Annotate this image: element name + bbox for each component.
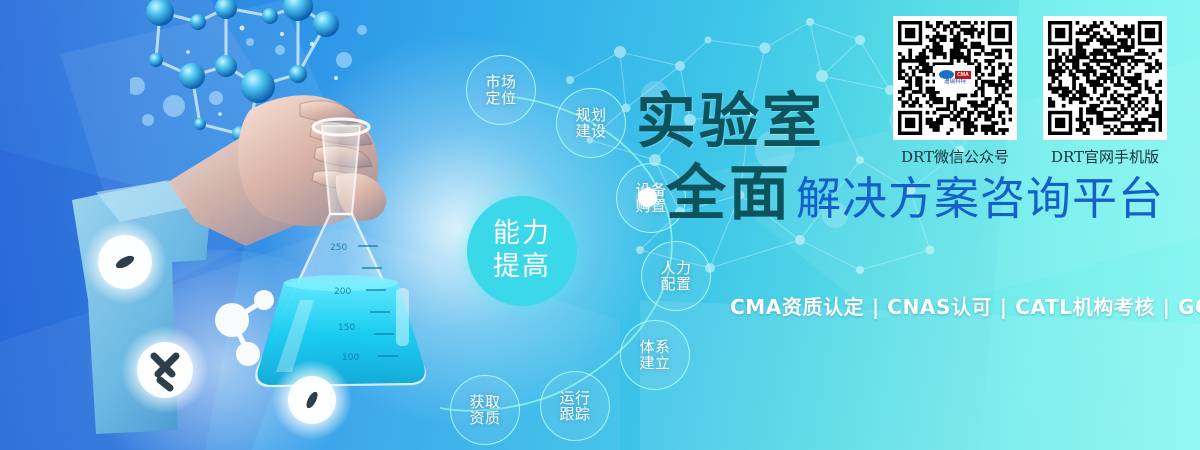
- qr-code-image-wechat-official-account[interactable]: CMA迪瑞科特: [893, 16, 1017, 140]
- bubble-label-line1: 体系: [639, 339, 670, 355]
- certification-tagline: CMA资质认定 | CNAS认可 | CATL机构考核 | GCP认证 | 6S…: [730, 291, 1200, 320]
- headline-emphasis: 全面: [666, 164, 792, 224]
- lower-glow: [60, 250, 380, 450]
- svg-text:100: 100: [342, 353, 359, 363]
- bubble-label-line2: 跟踪: [559, 406, 590, 422]
- flask-glow: [250, 20, 670, 440]
- qr-item-official-site-mobile[interactable]: DRT官网手机版: [1043, 16, 1167, 167]
- svg-text:150: 150: [338, 323, 355, 333]
- bubble-label-line1: 人力: [660, 260, 691, 276]
- qr-label-wechat-official-account: DRT微信公众号: [901, 146, 1009, 167]
- logo-cma-badge: CMA: [955, 71, 970, 79]
- process-bubble-capability-improvement[interactable]: 能力提高: [467, 196, 577, 306]
- process-bubble-manpower-allocation[interactable]: 人力配置: [641, 241, 711, 311]
- svg-text:200: 200: [334, 287, 351, 297]
- qr-label-official-site-mobile: DRT官网手机版: [1051, 146, 1159, 167]
- logo-oval-mark: [939, 70, 954, 79]
- bubble-label-line2: 配置: [660, 276, 691, 292]
- bg-facet-5: [640, 300, 1200, 450]
- bg-facet-1: [0, 0, 340, 450]
- qr-code-group: CMA迪瑞科特DRT微信公众号DRT官网手机版: [893, 16, 1167, 167]
- bubble-label-line2: 建设: [575, 123, 606, 139]
- process-bubble-planning-construction[interactable]: 规划建设: [556, 88, 626, 158]
- bg-facet-3: [0, 150, 250, 450]
- headline-subtext: 解决方案咨询平台: [796, 174, 1164, 224]
- headline-line-2: 全面 解决方案咨询平台: [636, 164, 1196, 224]
- bullet-dot-icon: [638, 188, 657, 207]
- process-bubble-market-positioning[interactable]: 市场定位: [466, 55, 536, 125]
- bubble-label-line2: 资质: [469, 410, 500, 426]
- bubble-label-line2: 建立: [639, 355, 670, 371]
- bubble-label-line2: 定位: [485, 90, 516, 106]
- qr-item-wechat-official-account[interactable]: CMA迪瑞科特DRT微信公众号: [893, 16, 1017, 167]
- bubble-label-line1: 市场: [485, 74, 516, 90]
- logo-company-name: 迪瑞科特: [944, 79, 966, 86]
- process-bubble-obtain-qualification[interactable]: 获取资质: [450, 375, 520, 445]
- bubble-label-line1: 获取: [469, 394, 500, 410]
- process-bubble-operation-tracking[interactable]: 运行跟踪: [540, 371, 610, 441]
- qr-center-logo: CMA迪瑞科特: [935, 65, 975, 91]
- molecule-diagram-icon: [130, 0, 390, 164]
- bubble-label-line2: 提高: [493, 251, 551, 284]
- qr-code-image-official-site-mobile[interactable]: [1043, 16, 1167, 140]
- bg-facet-2: [60, 0, 360, 300]
- svg-text:250: 250: [330, 243, 347, 253]
- bubble-label-line1: 规划: [575, 107, 606, 123]
- laboratory-solution-banner: 250 200 150 100: [0, 0, 1200, 450]
- bubble-label-line1: 能力: [493, 218, 551, 251]
- hand-holding-flask-photo: 250 200 150 100: [0, 0, 450, 450]
- process-bubble-system-establishment[interactable]: 体系建立: [620, 320, 690, 390]
- bubble-label-line1: 运行: [559, 390, 590, 406]
